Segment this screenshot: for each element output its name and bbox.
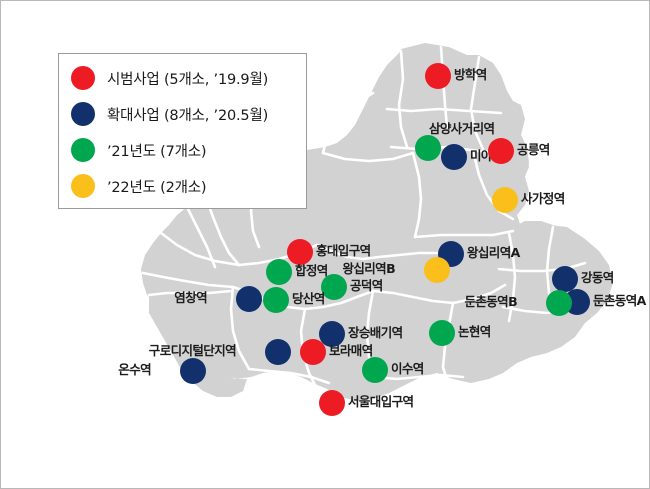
station-dot-expansion-navy[interactable] — [236, 286, 262, 312]
legend-swatch-red — [71, 66, 95, 90]
station-dot-year21-green[interactable] — [266, 259, 292, 285]
station-label: 당산역 — [292, 292, 325, 306]
station-dot-expansion-navy[interactable] — [441, 144, 467, 170]
legend-item-expansion: 확대사업 (8개소, ’20.5월) — [59, 96, 306, 132]
map-figure: 시범사업 (5개소, ’19.9월) 확대사업 (8개소, ’20.5월) ’2… — [0, 0, 650, 489]
station-dot-year21-green[interactable] — [429, 320, 455, 346]
station-dot-pilot-red[interactable] — [300, 339, 326, 365]
legend-item-2021: ’21년도 (7개소) — [59, 132, 306, 168]
legend-swatch-navy — [71, 102, 95, 126]
station-label: 온수역 — [118, 363, 151, 377]
station-label: 구로디지털단지역 — [149, 344, 236, 358]
station-dot-pilot-red[interactable] — [425, 63, 451, 89]
station-dot-pilot-red[interactable] — [287, 239, 313, 265]
station-dot-year21-green[interactable] — [415, 135, 441, 161]
station-label: 장승배기역 — [348, 326, 403, 340]
legend-label-2022: ’22년도 (2개소) — [107, 176, 206, 197]
station-label: 삼양사거리역 — [429, 122, 494, 136]
station-dot-year21-green[interactable] — [362, 357, 388, 383]
station-label: 서울대입구역 — [348, 395, 413, 409]
station-label: 둔촌동역B — [464, 295, 517, 309]
station-dot-expansion-navy[interactable] — [552, 266, 578, 292]
station-dot-year21-green[interactable] — [546, 290, 572, 316]
station-label: 이수역 — [391, 362, 424, 376]
legend-label-2021: ’21년도 (7개소) — [107, 140, 206, 161]
station-label: 왕십리역B — [342, 262, 395, 276]
station-label: 염창역 — [174, 291, 207, 305]
station-dot-year22-yellow[interactable] — [424, 257, 450, 283]
station-dot-expansion-navy[interactable] — [180, 358, 206, 384]
legend-label-expansion: 확대사업 (8개소, ’20.5월) — [107, 104, 268, 125]
station-label: 홍대입구역 — [316, 244, 371, 258]
station-label: 방학역 — [454, 68, 487, 82]
station-dot-expansion-navy[interactable] — [265, 339, 291, 365]
station-label: 둔촌동역A — [593, 294, 646, 308]
station-label: 왕십리역A — [467, 246, 520, 260]
legend-swatch-yellow — [71, 174, 95, 198]
legend-label-pilot: 시범사업 (5개소, ’19.9월) — [107, 68, 268, 89]
station-dot-year21-green[interactable] — [263, 287, 289, 313]
legend-swatch-green — [71, 138, 95, 162]
station-label: 합정역 — [295, 264, 328, 278]
legend-panel: 시범사업 (5개소, ’19.9월) 확대사업 (8개소, ’20.5월) ’2… — [58, 53, 307, 209]
station-label: 공덕역 — [350, 279, 383, 293]
station-dot-pilot-red[interactable] — [319, 390, 345, 416]
legend-item-2022: ’22년도 (2개소) — [59, 168, 306, 204]
legend-item-pilot: 시범사업 (5개소, ’19.9월) — [59, 60, 306, 96]
station-label: 보라매역 — [329, 344, 373, 358]
station-dot-pilot-red[interactable] — [488, 138, 514, 164]
station-label: 논현역 — [458, 325, 491, 339]
station-label: 강동역 — [581, 271, 614, 285]
station-dot-year22-yellow[interactable] — [492, 187, 518, 213]
station-label: 공릉역 — [517, 143, 550, 157]
station-label: 사가정역 — [521, 192, 565, 206]
